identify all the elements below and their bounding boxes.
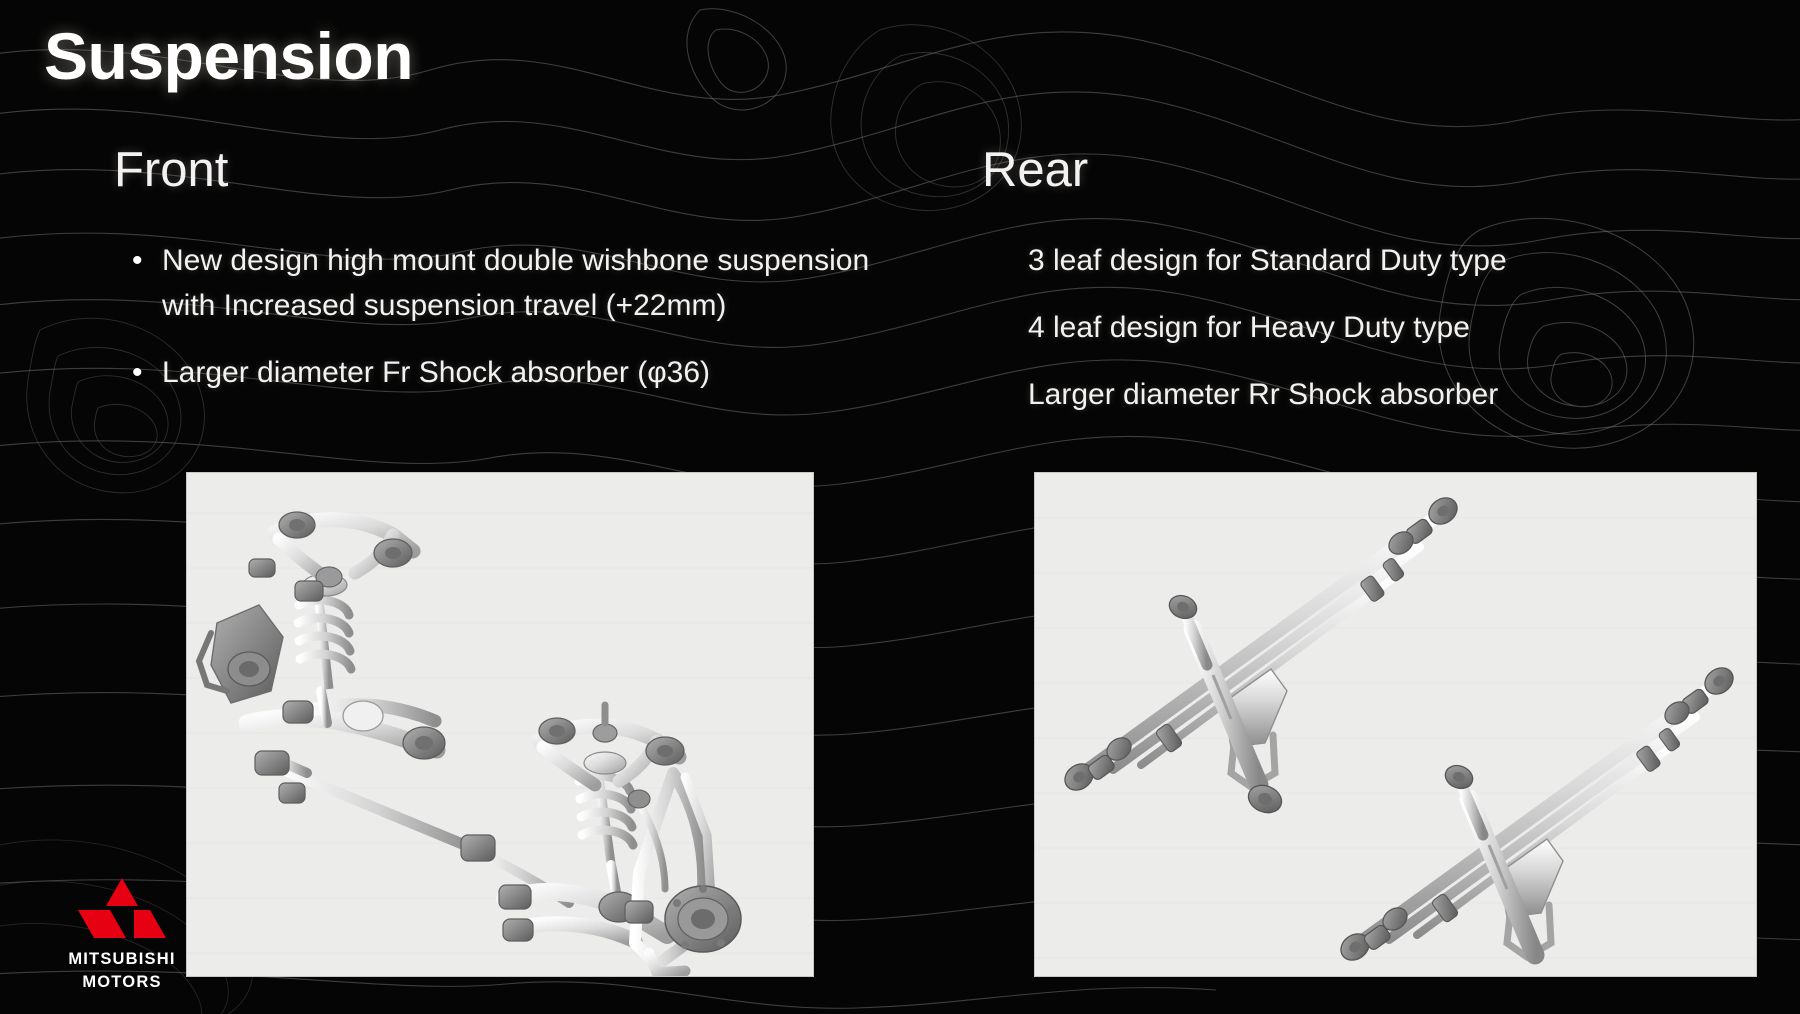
three-diamonds-icon — [76, 876, 168, 946]
list-item: • Larger diameter Fr Shock absorber (φ36… — [132, 350, 892, 395]
rear-suspension-image — [1034, 472, 1757, 977]
bullet-marker-icon: • — [132, 238, 162, 283]
bullet-marker-icon: • — [132, 350, 162, 395]
list-item: 4 leaf design for Heavy Duty type — [1028, 305, 1728, 350]
bullet-text: New design high mount double wishbone su… — [162, 238, 892, 328]
column-heading-rear: Rear — [982, 142, 1088, 198]
bullet-text: Larger diameter Fr Shock absorber (φ36) — [162, 350, 892, 395]
bullet-text: 3 leaf design for Standard Duty type — [1028, 238, 1728, 283]
list-item: Larger diameter Rr Shock absorber — [1028, 372, 1728, 417]
list-item: 3 leaf design for Standard Duty type — [1028, 238, 1728, 283]
brand-name-line2: MOTORS — [62, 973, 182, 992]
front-suspension-image — [186, 472, 814, 977]
page-title: Suspension — [44, 18, 413, 94]
column-heading-front: Front — [114, 142, 228, 198]
presentation-slide: Suspension Front • New design high mount… — [0, 0, 1800, 1014]
bullet-list-rear: 3 leaf design for Standard Duty type 4 l… — [1028, 238, 1728, 439]
mitsubishi-motors-logo: MITSUBISHI MOTORS — [62, 876, 182, 992]
bullet-text: 4 leaf design for Heavy Duty type — [1028, 305, 1728, 350]
brand-name-line1: MITSUBISHI — [62, 950, 182, 969]
bullet-list-front: • New design high mount double wishbone … — [132, 238, 892, 395]
bullet-text: Larger diameter Rr Shock absorber — [1028, 372, 1728, 417]
list-item: • New design high mount double wishbone … — [132, 238, 892, 328]
